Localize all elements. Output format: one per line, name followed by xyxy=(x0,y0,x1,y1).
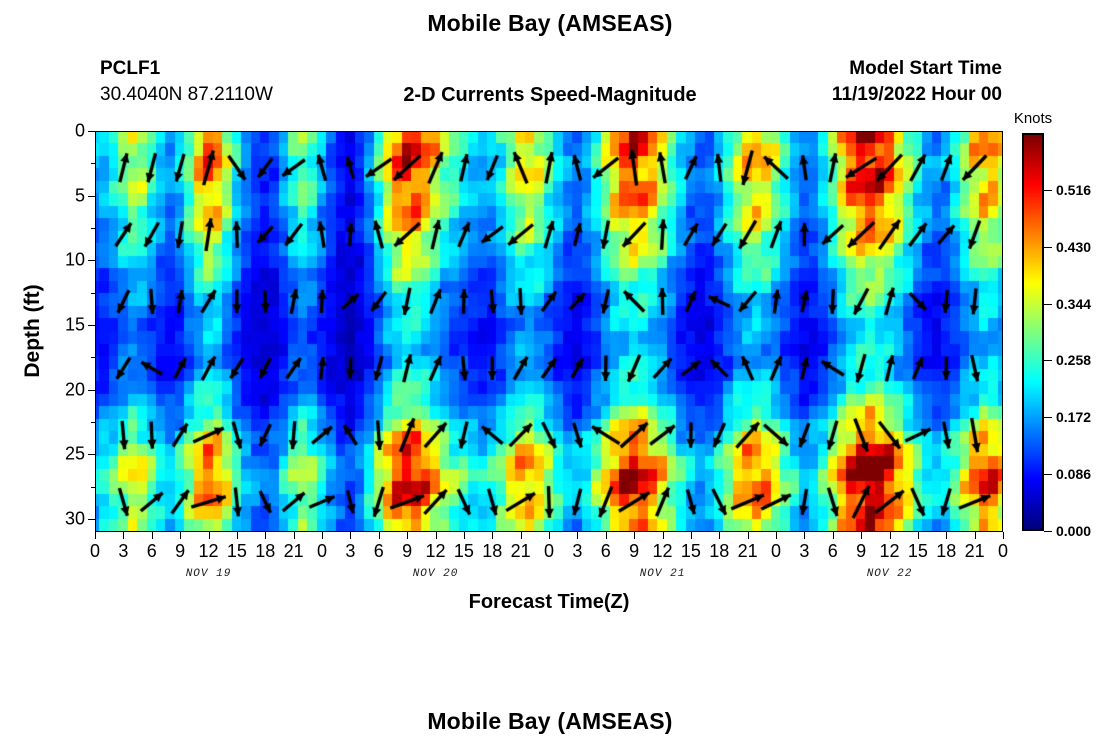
model-start-time-label: Model Start Time xyxy=(849,58,1002,80)
colorbar-tick-label: 0.344 xyxy=(1056,296,1091,312)
y-axis-title: Depth (ft) xyxy=(21,284,45,377)
colorbar: 0.0000.0860.1720.2580.3440.4300.516 xyxy=(1022,133,1044,531)
x-tick-mark xyxy=(804,532,805,539)
x-tick-label: 12 xyxy=(879,541,899,562)
x-tick-mark xyxy=(776,532,777,539)
colorbar-tick-mark xyxy=(1044,417,1052,418)
colorbar-title: Knots xyxy=(1014,110,1052,127)
x-tick-label: 9 xyxy=(175,541,185,562)
x-tick-label: 3 xyxy=(345,541,355,562)
x-tick-label: 12 xyxy=(425,541,445,562)
colorbar-tick-label: 0.516 xyxy=(1056,182,1091,198)
y-tick-label: 15 xyxy=(65,315,95,336)
x-tick-mark xyxy=(1003,532,1004,539)
colorbar-tick-label: 0.172 xyxy=(1056,409,1091,425)
x-tick-label: 15 xyxy=(227,541,247,562)
x-tick-mark xyxy=(152,532,153,539)
colorbar-tick-mark xyxy=(1044,247,1052,248)
x-tick-label: 9 xyxy=(402,541,412,562)
colorbar-tick-mark xyxy=(1044,360,1052,361)
x-tick-label: 21 xyxy=(738,541,758,562)
y-tick-minor xyxy=(91,487,95,488)
x-tick-mark xyxy=(521,532,522,539)
x-tick-mark xyxy=(890,532,891,539)
x-tick-label: 0 xyxy=(317,541,327,562)
x-day-label: NOV 19 xyxy=(186,568,232,580)
x-tick-mark xyxy=(918,532,919,539)
model-start-time-value: 11/19/2022 Hour 00 xyxy=(832,84,1002,106)
y-tick-label: 0 xyxy=(75,121,95,142)
x-tick-label: 0 xyxy=(544,541,554,562)
x-tick-mark xyxy=(492,532,493,539)
x-tick-label: 18 xyxy=(255,541,275,562)
colorbar-tick-label: 0.086 xyxy=(1056,466,1091,482)
x-tick-mark xyxy=(861,532,862,539)
y-tick-label: 20 xyxy=(65,379,95,400)
x-axis-title: Forecast Time(Z) xyxy=(95,591,1003,614)
x-tick-mark xyxy=(294,532,295,539)
x-tick-mark xyxy=(350,532,351,539)
x-tick-label: 21 xyxy=(965,541,985,562)
x-tick-mark xyxy=(748,532,749,539)
x-tick-label: 6 xyxy=(147,541,157,562)
x-tick-mark xyxy=(634,532,635,539)
x-tick-mark xyxy=(464,532,465,539)
colorbar-tick-label: 0.258 xyxy=(1056,352,1091,368)
x-tick-mark xyxy=(322,532,323,539)
colorbar-tick-mark xyxy=(1044,474,1052,475)
x-tick-mark xyxy=(691,532,692,539)
x-tick-mark xyxy=(95,532,96,539)
x-tick-label: 21 xyxy=(511,541,531,562)
x-day-label: NOV 22 xyxy=(867,568,913,580)
y-tick-label: 25 xyxy=(65,444,95,465)
x-tick-label: 18 xyxy=(482,541,502,562)
colorbar-tick-label: 0.000 xyxy=(1056,523,1091,539)
y-tick-label: 30 xyxy=(65,509,95,530)
x-tick-mark xyxy=(407,532,408,539)
x-tick-label: 6 xyxy=(374,541,384,562)
station-id: PCLF1 xyxy=(100,58,160,80)
x-tick-mark xyxy=(123,532,124,539)
y-tick-minor xyxy=(91,163,95,164)
x-tick-label: 9 xyxy=(856,541,866,562)
chart-page: Mobile Bay (AMSEAS) PCLF1 30.4040N 87.21… xyxy=(0,0,1100,750)
x-tick-mark xyxy=(549,532,550,539)
x-tick-label: 18 xyxy=(709,541,729,562)
x-tick-label: 15 xyxy=(681,541,701,562)
x-tick-mark xyxy=(180,532,181,539)
x-tick-label: 6 xyxy=(828,541,838,562)
x-day-label: NOV 20 xyxy=(413,568,459,580)
x-tick-mark xyxy=(975,532,976,539)
x-tick-mark xyxy=(606,532,607,539)
colorbar-tick-mark xyxy=(1044,190,1052,191)
x-tick-label: 3 xyxy=(572,541,582,562)
colorbar-tick-mark xyxy=(1044,531,1052,532)
y-tick-minor xyxy=(91,422,95,423)
colorbar-tick-mark xyxy=(1044,304,1052,305)
x-tick-label: 9 xyxy=(629,541,639,562)
x-tick-label: 18 xyxy=(936,541,956,562)
plot-frame xyxy=(95,131,1003,532)
x-tick-mark xyxy=(663,532,664,539)
x-tick-label: 12 xyxy=(652,541,672,562)
x-tick-label: 15 xyxy=(454,541,474,562)
x-tick-label: 0 xyxy=(771,541,781,562)
x-tick-mark xyxy=(719,532,720,539)
x-tick-mark xyxy=(946,532,947,539)
x-tick-mark xyxy=(265,532,266,539)
x-tick-mark xyxy=(577,532,578,539)
x-tick-mark xyxy=(209,532,210,539)
x-tick-label: 3 xyxy=(118,541,128,562)
plot-area: Depth (ft) 051015202530 0369121518210369… xyxy=(95,131,1003,532)
x-tick-label: 15 xyxy=(908,541,928,562)
x-tick-mark xyxy=(833,532,834,539)
x-day-label: NOV 21 xyxy=(640,568,686,580)
y-tick-minor xyxy=(91,357,95,358)
y-tick-label: 10 xyxy=(65,250,95,271)
x-tick-mark xyxy=(379,532,380,539)
x-tick-mark xyxy=(436,532,437,539)
y-tick-minor xyxy=(91,293,95,294)
page-title-top: Mobile Bay (AMSEAS) xyxy=(0,10,1100,37)
x-tick-label: 12 xyxy=(198,541,218,562)
x-tick-label: 3 xyxy=(799,541,809,562)
x-tick-label: 21 xyxy=(284,541,304,562)
y-tick-label: 5 xyxy=(75,185,95,206)
colorbar-gradient xyxy=(1022,133,1044,531)
colorbar-tick-label: 0.430 xyxy=(1056,239,1091,255)
y-tick-minor xyxy=(91,228,95,229)
x-tick-label: 0 xyxy=(90,541,100,562)
x-tick-label: 0 xyxy=(998,541,1008,562)
x-tick-mark xyxy=(237,532,238,539)
page-title-bottom: Mobile Bay (AMSEAS) xyxy=(0,708,1100,735)
x-tick-label: 6 xyxy=(601,541,611,562)
